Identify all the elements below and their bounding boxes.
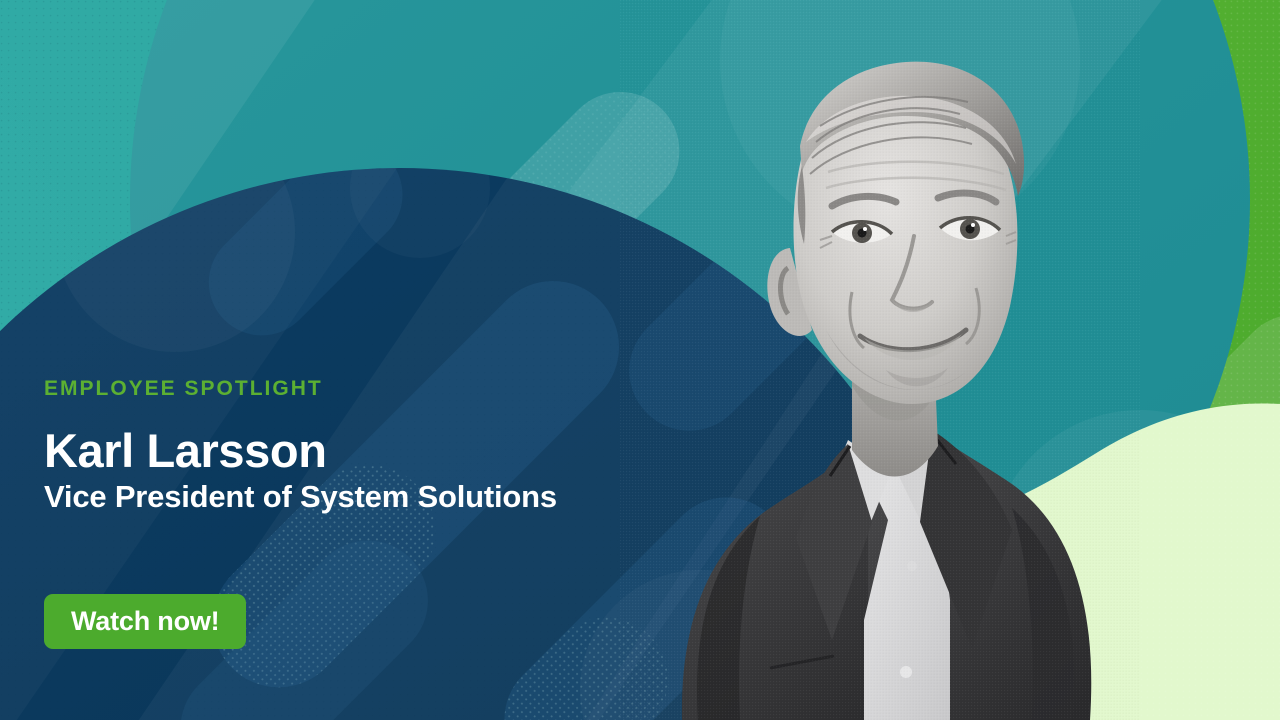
portrait-photo [620, 0, 1140, 720]
spotlight-banner: EMPLOYEE SPOTLIGHT Karl Larsson Vice Pre… [0, 0, 1280, 720]
text-block: EMPLOYEE SPOTLIGHT Karl Larsson Vice Pre… [44, 376, 644, 516]
person-name: Karl Larsson [44, 426, 644, 476]
person-job-title: Vice President of System Solutions [44, 478, 644, 516]
eyebrow-label: EMPLOYEE SPOTLIGHT [44, 376, 644, 402]
watch-now-button[interactable]: Watch now! [44, 594, 246, 649]
